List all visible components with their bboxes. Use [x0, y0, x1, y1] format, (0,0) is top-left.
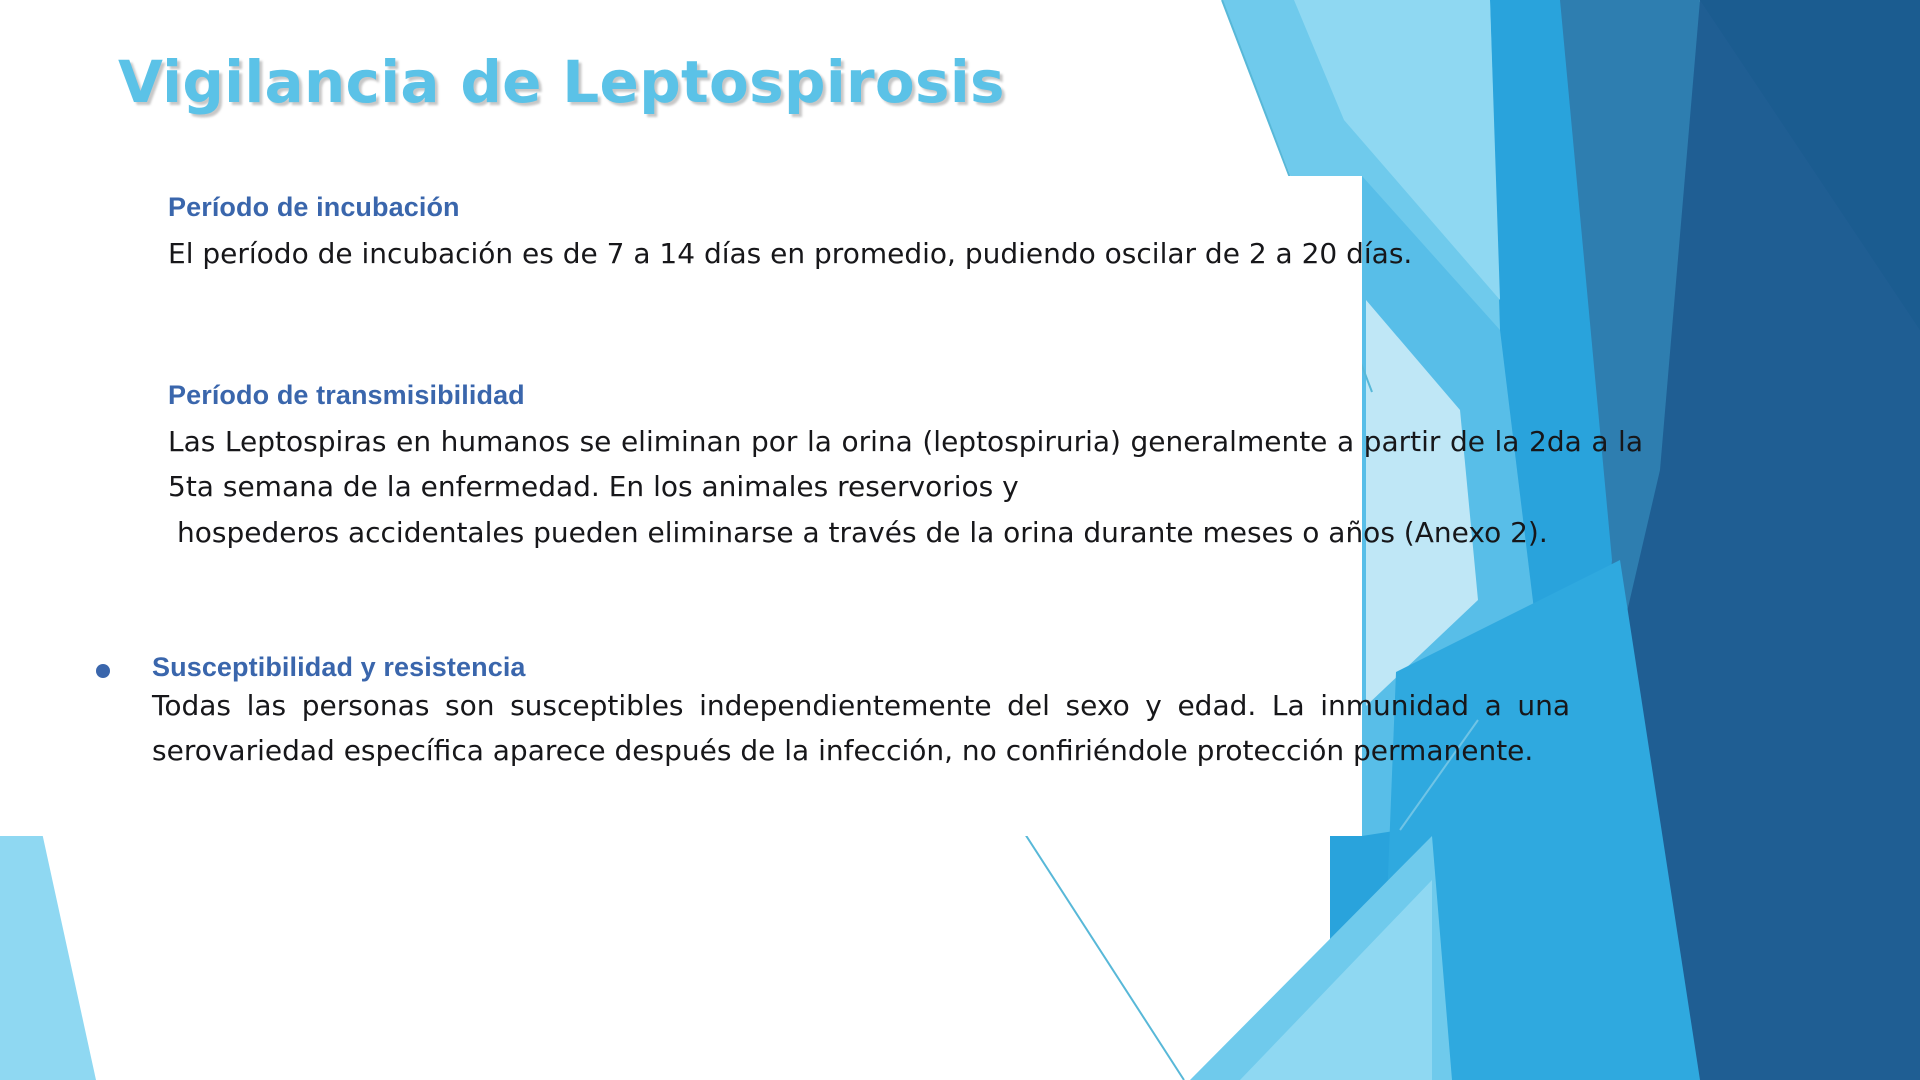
section-heading-susceptibilidad: Susceptibilidad y resistencia	[152, 652, 526, 683]
section-heading-transmisibilidad: Período de transmisibilidad	[168, 380, 1638, 411]
presentation-slide: Vigilancia de Leptospirosis Período de i…	[0, 0, 1920, 1080]
deco-sky-bottom-triangle	[1190, 836, 1452, 1080]
section-body-incubacion: El período de incubación es de 7 a 14 dí…	[168, 231, 1638, 276]
section-heading-incubacion: Período de incubación	[168, 192, 1638, 223]
bullet-row: Susceptibilidad y resistencia	[96, 652, 1656, 683]
deco-azure-lower-facet	[1380, 560, 1700, 1080]
section-transmisibilidad: Período de transmisibilidad Las Leptospi…	[168, 380, 1638, 555]
deco-sky-bottom-light-triangle	[1240, 880, 1432, 1080]
section-body-transmisibilidad-continued: hospederos accidentales pueden eliminars…	[168, 510, 1643, 555]
deco-hairline-bottom	[1016, 820, 1184, 1080]
section-body-susceptibilidad: Todas las personas son susceptibles inde…	[152, 683, 1570, 774]
deco-navy-wedge	[1700, 0, 1920, 330]
page-title: Vigilancia de Leptospirosis	[118, 48, 1005, 116]
section-susceptibilidad: Susceptibilidad y resistencia Todas las …	[96, 652, 1656, 774]
section-incubacion: Período de incubación El período de incu…	[168, 192, 1638, 276]
bullet-point-icon	[96, 664, 110, 678]
slide-body: Período de incubación El período de incu…	[0, 176, 1362, 856]
section-body-transmisibilidad: Las Leptospiras en humanos se eliminan p…	[168, 419, 1643, 510]
